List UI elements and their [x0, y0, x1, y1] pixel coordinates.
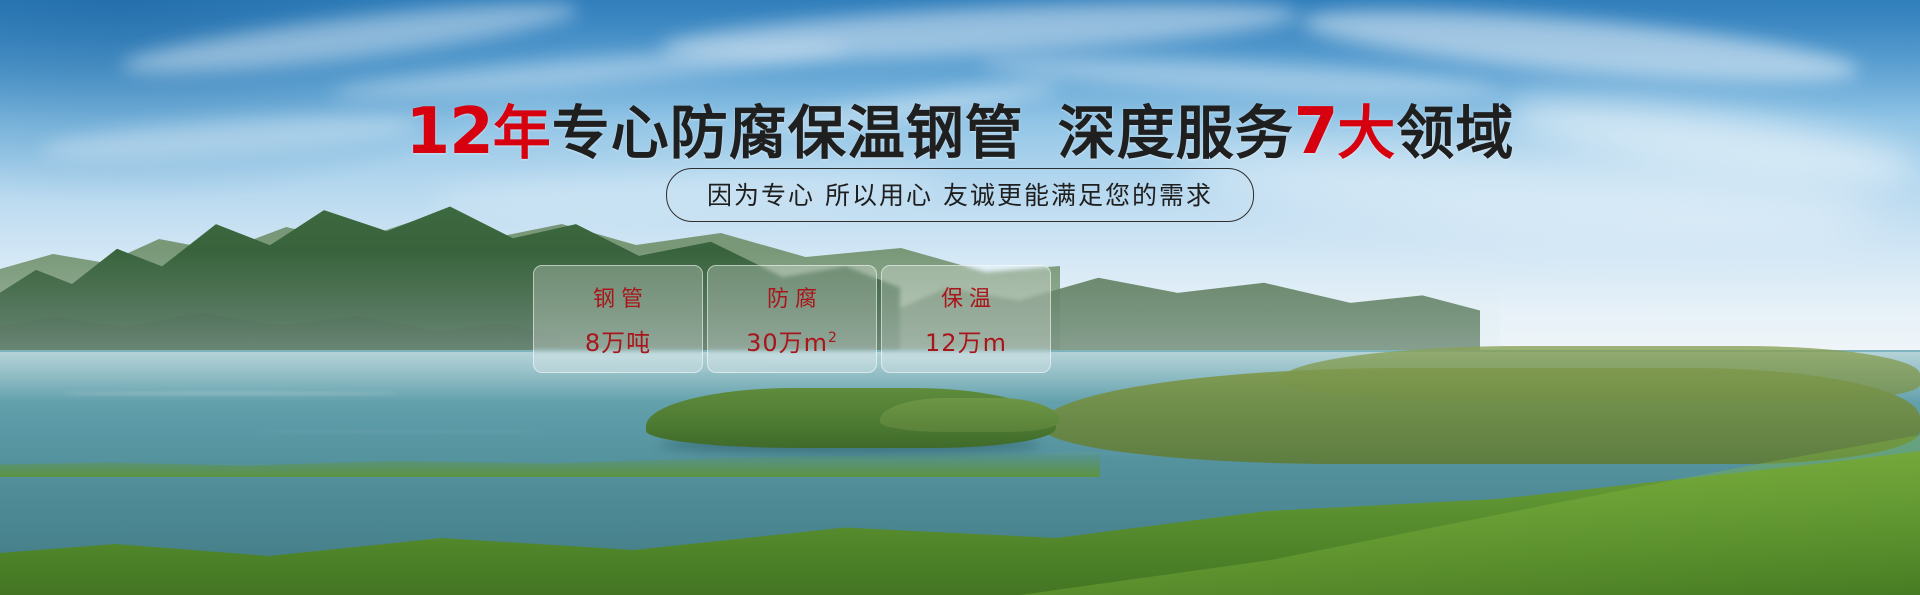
headline-main-phrase: 专心防腐保温钢管	[552, 99, 1024, 167]
stat-card-value-base: 8万吨	[585, 329, 651, 357]
stat-card-label: 防腐	[761, 281, 823, 313]
stat-card-value-base: 12万m	[925, 329, 1007, 357]
headline-fields-phrase: 领域	[1396, 99, 1514, 167]
headline-fields-unit: 大	[1337, 99, 1396, 167]
stat-card: 保温 12万m	[881, 265, 1051, 373]
stat-card-value: 30万m2	[746, 323, 838, 358]
stat-card-value: 8万吨	[585, 323, 651, 358]
banner-content: 12年专心防腐保温钢管深度服务7大领域 因为专心 所以用心 友诚更能满足您的需求…	[0, 0, 1920, 595]
banner-headline: 12年专心防腐保温钢管深度服务7大领域	[0, 86, 1920, 170]
stat-card-group: 钢管 8万吨 防腐 30万m2 保温 12万m	[533, 265, 1051, 373]
banner-subtitle-pill: 因为专心 所以用心 友诚更能满足您的需求	[666, 168, 1254, 222]
stat-card-label: 保温	[935, 281, 997, 313]
stat-card-label: 钢管	[587, 281, 649, 313]
stat-card-value: 12万m	[925, 323, 1007, 358]
headline-years-number: 12	[406, 95, 493, 169]
headline-service-phrase: 深度服务	[1058, 99, 1294, 167]
headline-years-unit: 年	[493, 99, 552, 167]
stat-card-value-sup: 2	[828, 330, 838, 346]
stat-card: 钢管 8万吨	[533, 265, 703, 373]
stat-card: 防腐 30万m2	[707, 265, 877, 373]
hero-banner: 12年专心防腐保温钢管深度服务7大领域 因为专心 所以用心 友诚更能满足您的需求…	[0, 0, 1920, 595]
headline-fields-number: 7	[1294, 95, 1338, 169]
stat-card-value-base: 30万m	[746, 329, 828, 357]
